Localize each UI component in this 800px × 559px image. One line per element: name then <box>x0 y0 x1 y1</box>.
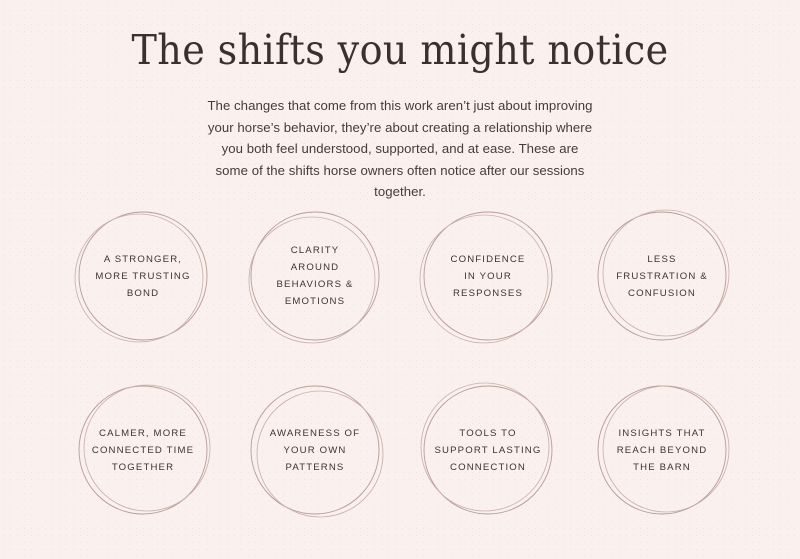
badge-label-line: IN YOUR <box>464 268 512 285</box>
badge-label-line: PATTERNS <box>286 459 345 476</box>
badge-label-line: CALMER, MORE <box>99 425 187 442</box>
badge-label: A STRONGER,MORE TRUSTINGBOND <box>63 196 223 356</box>
page-root: The shifts you might notice The changes … <box>0 0 800 559</box>
badge-stronger-trusting-bond: A STRONGER,MORE TRUSTINGBOND <box>63 196 223 356</box>
badge-confidence-responses: CONFIDENCEIN YOURRESPONSES <box>408 196 568 356</box>
badge-label-line: CONFUSION <box>628 285 696 302</box>
benefits-grid: A STRONGER,MORE TRUSTINGBOND CLARITYAROU… <box>0 196 800 544</box>
badge-label-line: BOND <box>127 285 159 302</box>
badge-insights-beyond-barn: INSIGHTS THATREACH BEYONDTHE BARN <box>582 370 742 530</box>
page-title: The shifts you might notice <box>28 0 772 74</box>
section-header: The shifts you might notice The changes … <box>0 0 800 203</box>
badge-label-line: FRUSTRATION & <box>616 268 708 285</box>
badge-label-line: SUPPORT LASTING <box>435 442 542 459</box>
badge-label-line: RESPONSES <box>453 285 523 302</box>
benefits-row-1: A STRONGER,MORE TRUSTINGBOND CLARITYAROU… <box>0 196 800 370</box>
badge-label-line: CONFIDENCE <box>451 251 526 268</box>
badge-tools-lasting-connection: TOOLS TOSUPPORT LASTINGCONNECTION <box>408 370 568 530</box>
badge-label-line: CONNECTION <box>450 459 526 476</box>
badge-label-line: YOUR OWN <box>283 442 346 459</box>
badge-label-line: INSIGHTS THAT <box>618 425 705 442</box>
badge-label: TOOLS TOSUPPORT LASTINGCONNECTION <box>408 370 568 530</box>
badge-label-line: LESS <box>647 251 676 268</box>
badge-label-line: EMOTIONS <box>285 293 345 310</box>
intro-paragraph: The changes that come from this work are… <box>204 74 596 203</box>
badge-label-line: THE BARN <box>633 459 691 476</box>
badge-label-line: TOOLS TO <box>459 425 516 442</box>
badge-label: AWARENESS OFYOUR OWNPATTERNS <box>235 370 395 530</box>
badge-label-line: REACH BEYOND <box>617 442 708 459</box>
badge-label-line: A STRONGER, <box>104 251 182 268</box>
benefits-row-2: CALMER, MORECONNECTED TIMETOGETHER AWARE… <box>0 370 800 544</box>
badge-label-line: BEHAVIORS & <box>277 276 354 293</box>
badge-label-line: AROUND <box>291 259 339 276</box>
badge-label: CLARITYAROUNDBEHAVIORS &EMOTIONS <box>235 196 395 356</box>
badge-label-line: CLARITY <box>291 242 340 259</box>
badge-label: INSIGHTS THATREACH BEYONDTHE BARN <box>582 370 742 530</box>
badge-less-frustration: LESSFRUSTRATION &CONFUSION <box>582 196 742 356</box>
badge-calmer-connected-time: CALMER, MORECONNECTED TIMETOGETHER <box>63 370 223 530</box>
badge-awareness-own-patterns: AWARENESS OFYOUR OWNPATTERNS <box>235 370 395 530</box>
badge-label-line: TOGETHER <box>112 459 174 476</box>
badge-label-line: MORE TRUSTING <box>95 268 190 285</box>
badge-label: CALMER, MORECONNECTED TIMETOGETHER <box>63 370 223 530</box>
badge-label-line: AWARENESS OF <box>270 425 360 442</box>
badge-label: CONFIDENCEIN YOURRESPONSES <box>408 196 568 356</box>
badge-clarity-behaviors: CLARITYAROUNDBEHAVIORS &EMOTIONS <box>235 196 395 356</box>
badge-label-line: CONNECTED TIME <box>92 442 194 459</box>
badge-label: LESSFRUSTRATION &CONFUSION <box>582 196 742 356</box>
